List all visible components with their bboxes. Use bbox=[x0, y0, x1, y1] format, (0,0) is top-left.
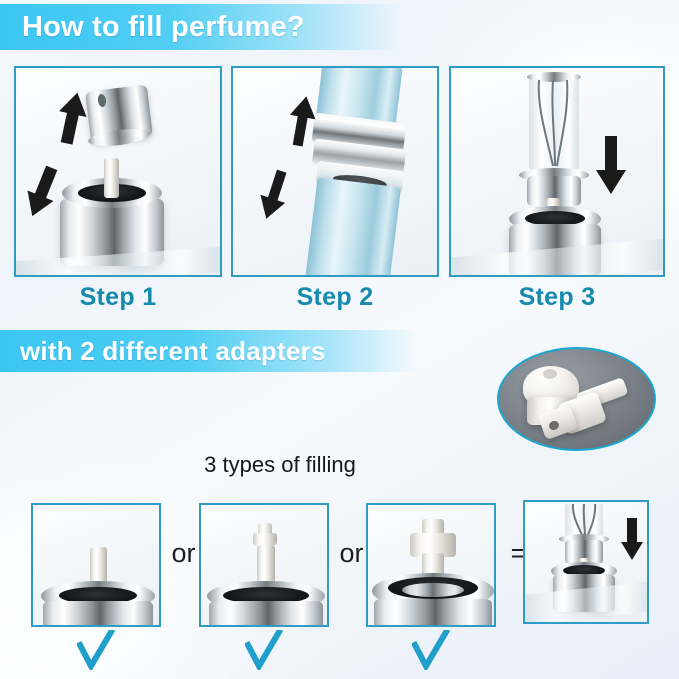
checkmark-3 bbox=[401, 630, 461, 670]
arrow-up-icon bbox=[56, 90, 88, 146]
arrow-up-icon bbox=[287, 94, 317, 148]
step-1-label: Step 1 bbox=[14, 283, 222, 312]
filling-result-frame bbox=[523, 500, 649, 624]
chrome-ring-inner bbox=[402, 583, 464, 597]
filling-option-1-frame bbox=[31, 503, 161, 627]
checkmark-1 bbox=[66, 630, 126, 670]
checkmark-2 bbox=[234, 630, 294, 670]
check-icon bbox=[77, 630, 115, 670]
title-banner: How to fill perfume? bbox=[0, 4, 400, 50]
arrow-down-icon bbox=[593, 134, 629, 196]
step-3-photo bbox=[451, 68, 663, 275]
filling-option-3-frame bbox=[366, 503, 496, 627]
step-2-photo bbox=[233, 68, 437, 275]
filling-result-photo bbox=[525, 502, 647, 622]
filling-option-2-frame bbox=[199, 503, 329, 627]
dip-tubes-icon bbox=[529, 78, 581, 170]
filling-title: 3 types of filling bbox=[0, 452, 560, 478]
check-icon bbox=[245, 630, 283, 670]
step-2-photo-frame bbox=[231, 66, 439, 277]
small-adapter-flange bbox=[253, 533, 277, 545]
step-1-photo-frame bbox=[14, 66, 222, 277]
adapters-photo bbox=[497, 347, 656, 451]
adapters-banner-title: with 2 different adapters bbox=[20, 336, 326, 367]
filling-option-3-photo bbox=[368, 505, 494, 625]
step-1-photo bbox=[16, 68, 220, 275]
check-icon bbox=[412, 630, 450, 670]
dome-adapter-dimple bbox=[543, 369, 557, 379]
arrow-down-icon bbox=[24, 164, 60, 220]
page-title: How to fill perfume? bbox=[22, 11, 305, 44]
step-2-label: Step 2 bbox=[231, 283, 439, 312]
step-3-photo-frame bbox=[449, 66, 665, 277]
filling-option-2-photo bbox=[201, 505, 327, 625]
infographic-page: How to fill perfume? bbox=[0, 0, 679, 679]
chrome-base bbox=[43, 601, 153, 625]
arrow-down-icon bbox=[257, 168, 291, 222]
filling-option-1-photo bbox=[33, 505, 159, 625]
step-3-label: Step 3 bbox=[449, 283, 665, 312]
arrow-down-icon bbox=[619, 516, 645, 562]
glass-bottle-shoulder bbox=[525, 581, 647, 622]
dip-tubes-icon bbox=[565, 504, 605, 538]
adapters-banner: with 2 different adapters bbox=[0, 330, 418, 372]
white-nozzle bbox=[104, 158, 119, 198]
chrome-base bbox=[209, 601, 323, 625]
atomizer-lower-tube bbox=[305, 177, 401, 275]
chrome-base bbox=[374, 599, 492, 625]
